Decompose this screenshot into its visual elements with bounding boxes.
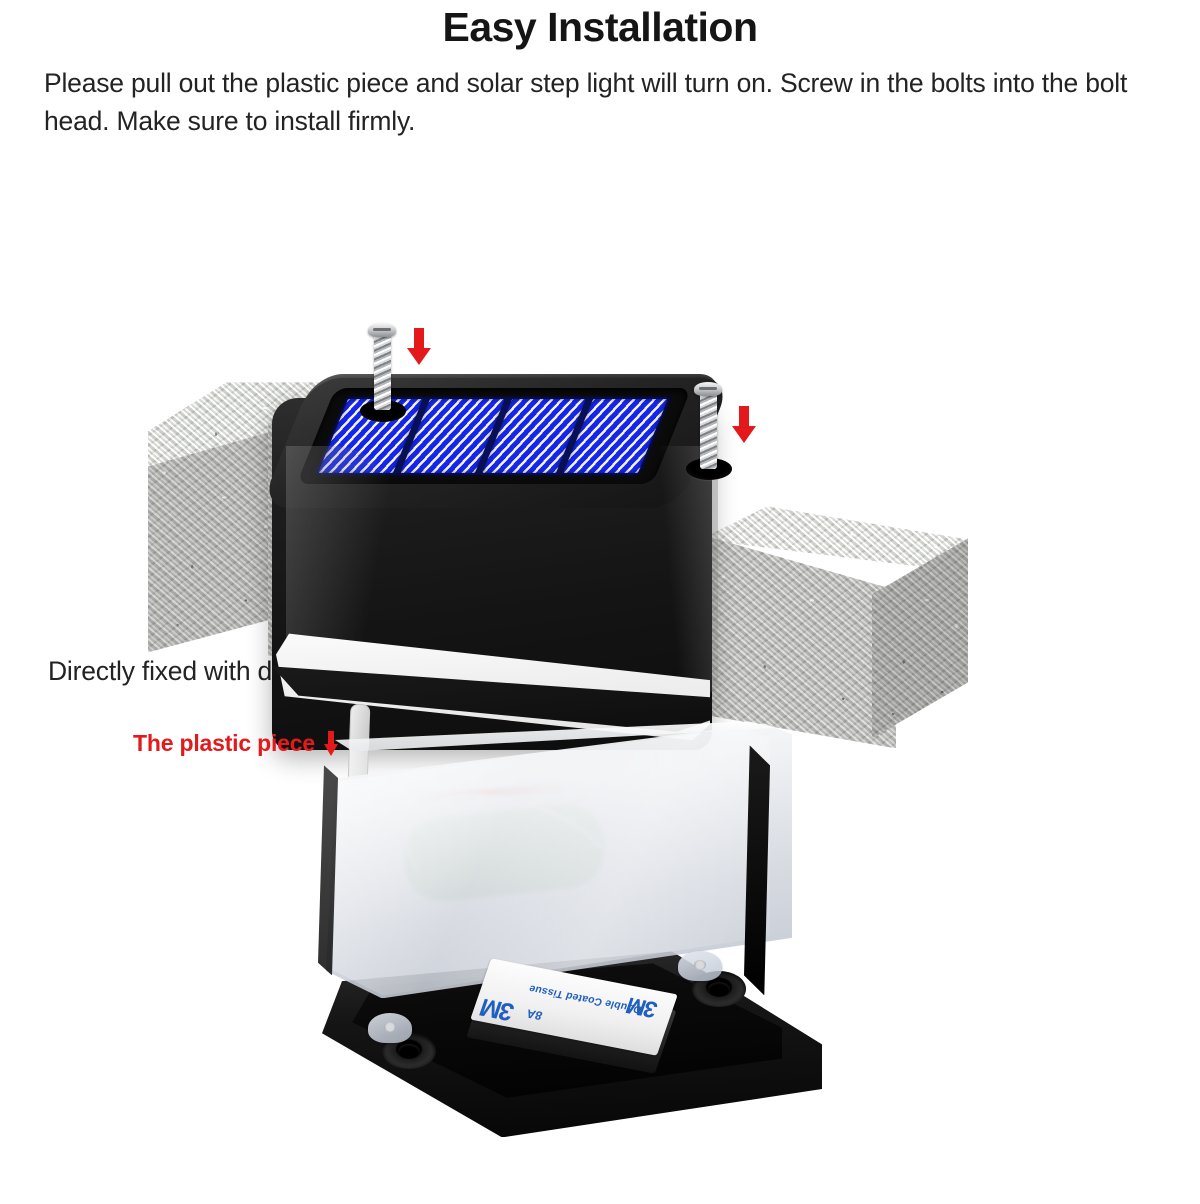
concrete-block-left-front-face [148, 428, 282, 652]
tape-brand-logo-secondary: 3M [624, 992, 661, 1023]
figure-opened-lamp-with-tape: 3M Double Coated Tissue 8A 3M [0, 713, 1200, 1143]
tape-brand-logo: 3M [477, 993, 518, 1027]
screw-thread-left [374, 332, 391, 410]
translucent-cover [326, 723, 792, 998]
arrow-head [732, 426, 756, 443]
screw-thread-right [700, 391, 717, 469]
arrow-shaft [739, 406, 749, 428]
arrow-shaft [414, 328, 424, 350]
arrow-head [407, 348, 431, 365]
concrete-block-right-side-face [872, 538, 968, 738]
figure-lamp-on-step: The plastic piece [0, 146, 1200, 656]
screw-head-left [368, 323, 396, 337]
screw-head-right [694, 382, 722, 396]
installation-instructions: Please pull out the plastic piece and so… [44, 65, 1156, 140]
page-title: Easy Installation [0, 4, 1200, 51]
screw-tab-left [368, 1013, 412, 1043]
tape-code-text: 8A [525, 1007, 545, 1023]
screw-tab-right [678, 951, 722, 981]
